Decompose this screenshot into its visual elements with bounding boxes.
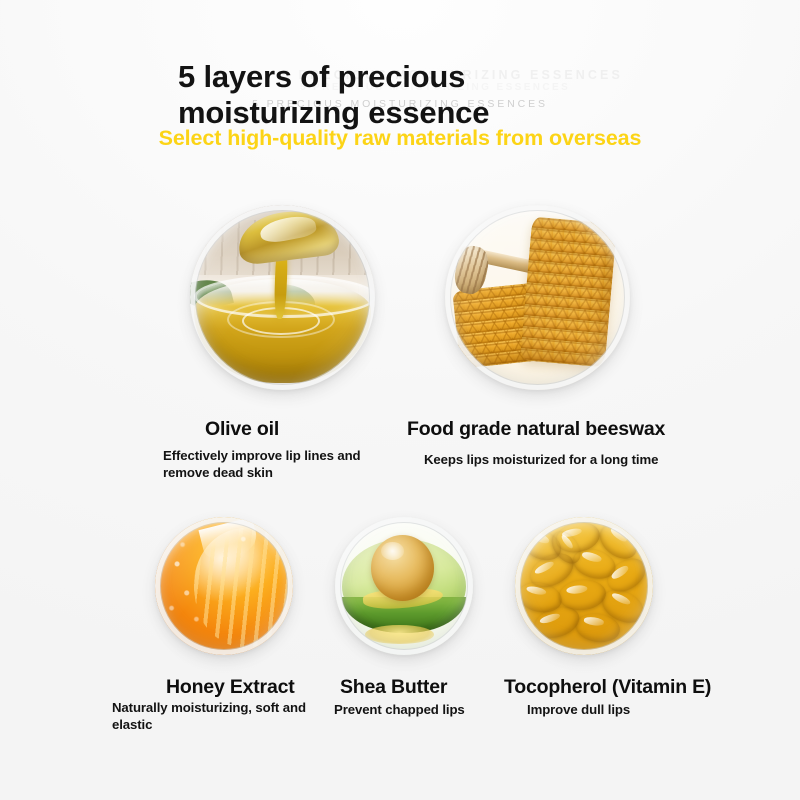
shea-butter-artwork <box>335 517 473 655</box>
tagline: Select high-quality raw materials from o… <box>0 126 800 151</box>
olive-oil-artwork <box>190 205 375 390</box>
infographic-page: 5 PRECIOUS MOISTURIZING ESSENCES 5 PRECI… <box>0 0 800 800</box>
ingredient-description-beeswax: Keeps lips moisturized for a long time <box>424 452 714 469</box>
tocopherol-artwork <box>515 517 653 655</box>
beeswax-artwork <box>445 205 630 390</box>
ingredient-description-tocopherol: Improve dull lips <box>527 702 717 719</box>
page-title: 5 layers of precious moisturizing essenc… <box>178 59 648 132</box>
header: 5 PRECIOUS MOISTURIZING ESSENCES 5 PRECI… <box>0 30 800 165</box>
ingredient-name-honey-extract: Honey Extract <box>166 676 295 699</box>
ingredient-image-honey-extract <box>155 517 293 655</box>
ingredient-name-beeswax: Food grade natural beeswax <box>407 418 665 441</box>
ingredient-image-shea-butter <box>335 517 473 655</box>
ingredient-description-honey-extract: Naturally moisturizing, soft and elastic <box>112 700 322 734</box>
ingredient-image-olive-oil <box>190 205 375 390</box>
ingredient-name-shea-butter: Shea Butter <box>340 676 447 699</box>
ingredient-description-shea-butter: Prevent chapped lips <box>334 702 534 719</box>
ingredient-image-beeswax <box>445 205 630 390</box>
ingredient-name-olive-oil: Olive oil <box>205 418 279 441</box>
ingredient-name-tocopherol: Tocopherol (Vitamin E) <box>504 676 711 699</box>
ingredient-image-tocopherol <box>515 517 653 655</box>
ingredient-description-olive-oil: Effectively improve lip lines and remove… <box>163 448 388 482</box>
honey-extract-artwork <box>155 517 293 655</box>
